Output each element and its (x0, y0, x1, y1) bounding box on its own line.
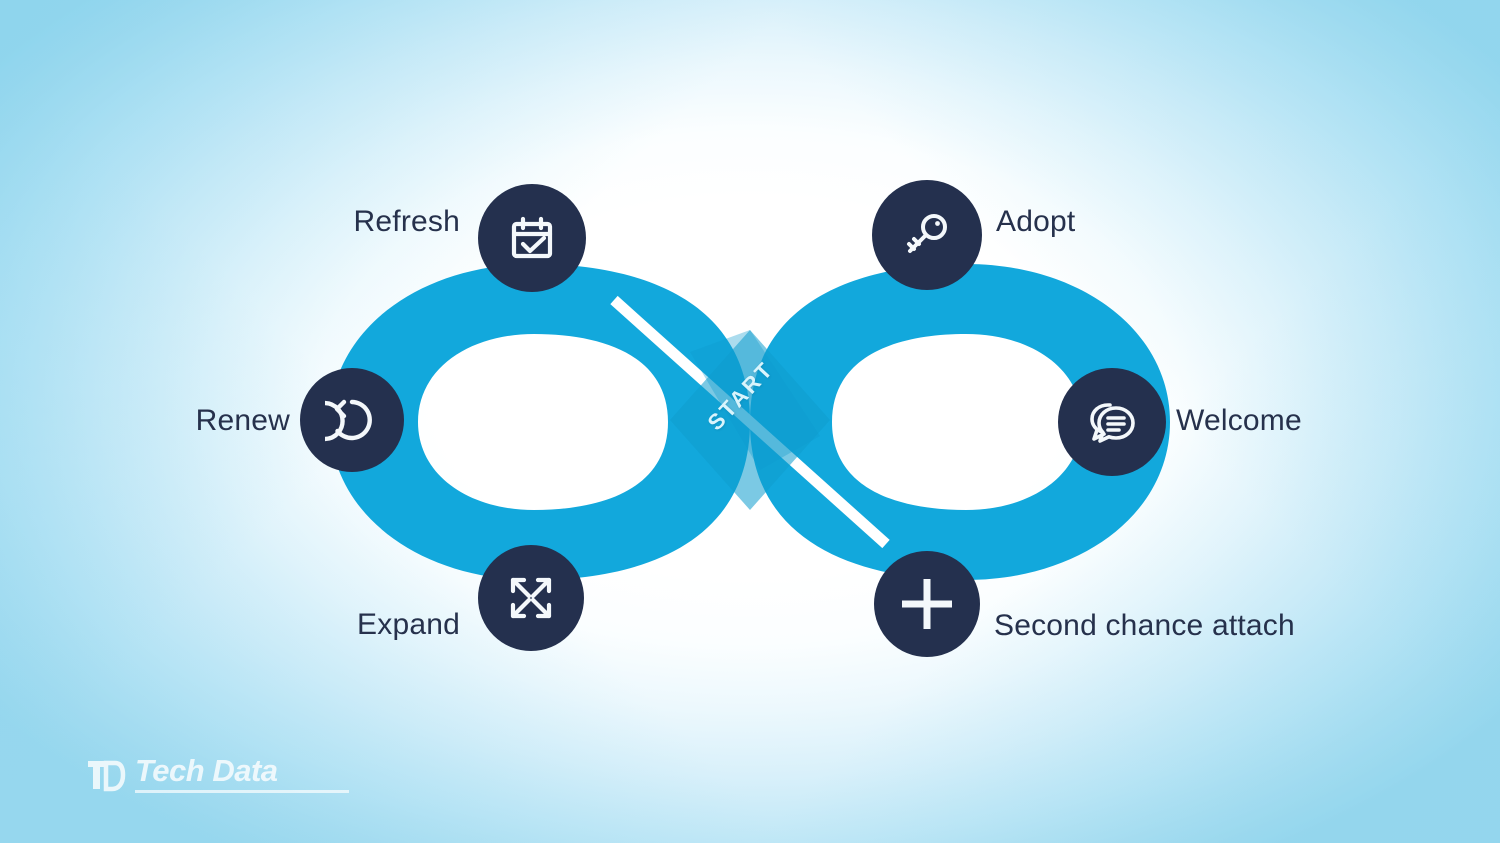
node-second-chance-attach[interactable] (874, 551, 980, 657)
node-label-refresh: Refresh (340, 207, 460, 237)
node-label-adopt: Adopt (996, 207, 1075, 237)
expand-arrows-icon (504, 571, 558, 625)
brand-underline (135, 790, 349, 793)
node-label-second-chance-attach: Second chance attach (994, 611, 1295, 641)
node-refresh[interactable] (478, 184, 586, 292)
node-label-renew: Renew (180, 406, 290, 436)
node-expand[interactable] (478, 545, 584, 651)
key-icon (900, 208, 954, 262)
node-label-expand: Expand (345, 610, 460, 640)
node-adopt[interactable] (872, 180, 982, 290)
brand-logo[interactable]: Tech Data (86, 755, 349, 793)
plus-icon (896, 573, 958, 635)
chat-bubbles-icon (1085, 395, 1139, 449)
node-renew[interactable] (300, 368, 404, 472)
node-welcome[interactable] (1058, 368, 1166, 476)
calendar-check-icon (506, 212, 558, 264)
infographic-canvas: START Refresh Renew (0, 0, 1500, 843)
brand-name: Tech Data (135, 755, 349, 786)
td-monogram-icon (86, 759, 126, 793)
rotate-left-icon (325, 393, 379, 447)
node-label-welcome: Welcome (1176, 406, 1302, 436)
